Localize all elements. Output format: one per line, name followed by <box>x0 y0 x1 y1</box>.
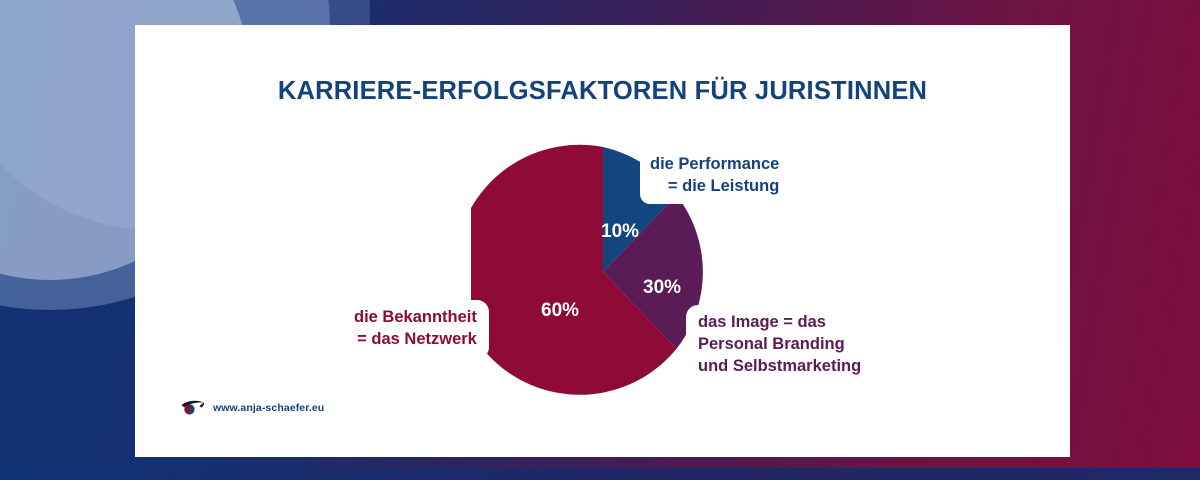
slide-card: KARRIERE-ERFOLGSFAKTOREN FÜR JURISTINNEN… <box>135 25 1070 457</box>
pie-callout-performance: die Performance = die Leistung <box>640 149 789 204</box>
pie-value-label-performance: 10% <box>601 221 639 243</box>
pie-value-label-bekanntheit: 60% <box>541 300 579 322</box>
pie-value-label-image: 30% <box>643 277 681 299</box>
background-bottom-strip <box>0 468 1200 480</box>
pie-chart: 10% 30% 60% die Performance = die Leistu… <box>135 25 1070 457</box>
pie-callout-image: das Image = das Personal Branding und Se… <box>686 305 873 385</box>
swoosh-dot-logo-icon <box>180 399 206 417</box>
footer-logo[interactable]: www.anja-schaefer.eu <box>180 399 324 417</box>
pie-callout-bekanntheit: die Bekanntheit = das Netzwerk <box>342 300 489 359</box>
footer-website-url[interactable]: www.anja-schaefer.eu <box>213 402 324 414</box>
